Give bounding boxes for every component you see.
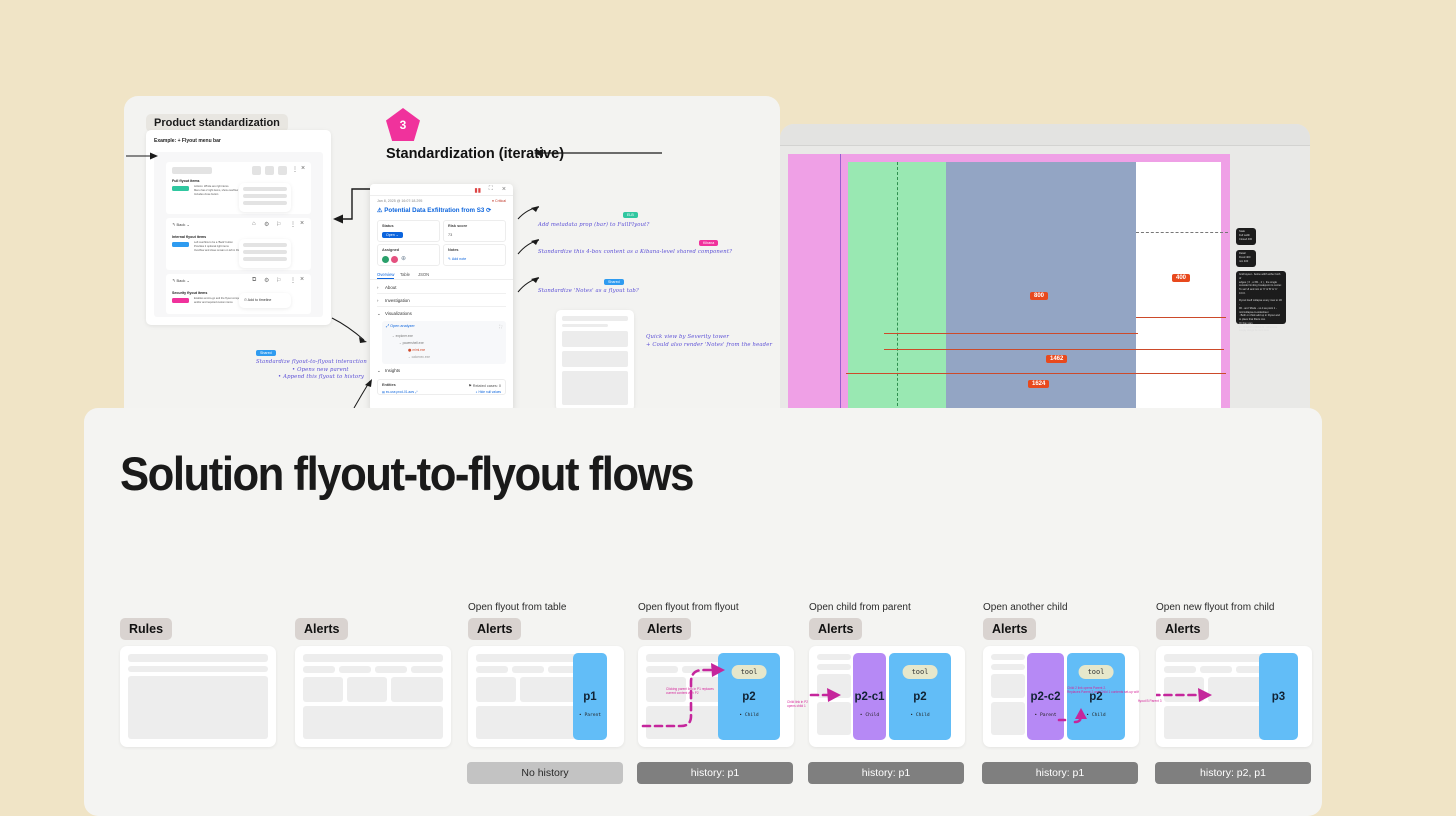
flow-caption: Open flyout from table [468, 602, 566, 613]
annotation-text: Quick view by Severity tower [646, 334, 729, 340]
panel-role-label: Parent [584, 713, 601, 718]
back-button[interactable]: ↰ Back ⌄ [172, 278, 190, 283]
kebab-icon[interactable]: ⋮ [290, 277, 296, 284]
panel-name: p2 [889, 691, 951, 703]
open-analyzer-link[interactable]: ⤢ Open analyzer [386, 324, 415, 328]
panel-name: p2 [718, 691, 780, 703]
bookmark-icon[interactable]: ⚐ [276, 221, 281, 228]
hide-columns-link[interactable]: ◐ Hide null values [476, 390, 501, 394]
history-badge: history: p1 [982, 762, 1138, 784]
status-pill[interactable]: Open ⌄ [382, 232, 403, 238]
kebab-icon[interactable]: ⋮ [290, 221, 296, 228]
tree-node[interactable]: ⌄ explorer.exe [392, 334, 413, 338]
alert-title-text: Potential Data Exfiltration from S3 [384, 207, 484, 214]
panel-role-label: Child [1092, 713, 1106, 718]
flow-caption: Open child from parent [809, 602, 911, 613]
screenshot-root: Product standardization Example: + Flyou… [0, 0, 1456, 816]
measure-line-800 [884, 333, 1138, 334]
panel-name: p1 [573, 691, 607, 703]
close-icon[interactable]: × [301, 165, 305, 172]
tooltip-small-1: StaleFull widthClosed 400 [1236, 228, 1256, 245]
annotation-tag: Shared [604, 279, 624, 285]
panel-name: p2-c2 [1027, 691, 1064, 703]
add-note-link[interactable]: ✎ Add note [448, 257, 466, 261]
open-analyzer-label: Open analyzer [390, 324, 415, 328]
breakpoint-canvas: B20 - Above Large breakpoint (1500) 800 … [780, 124, 1310, 411]
back-button[interactable]: ↰ Back ⌄ [172, 222, 190, 227]
alert-detail-flyout: ▮▮ ⛶ × Jan 8, 2025 @ 16:07:18.295 ● Crit… [370, 184, 513, 411]
flyout-tabs: Overview Table JSON [370, 271, 513, 280]
flow-card-rules [120, 646, 276, 747]
panel-role: • Child [1067, 713, 1125, 718]
avatar[interactable] [382, 256, 389, 263]
step-title: Standardization (iterative) [386, 146, 564, 162]
add-assignee-icon[interactable]: ⊕ [401, 255, 406, 262]
gear-icon[interactable]: ⚙ [264, 277, 269, 284]
annotation-text: Standardize this 4-box content as a Kiba… [538, 249, 732, 255]
flow-note: Clicking parent link in P1 replaces curr… [666, 687, 714, 696]
flow-note: Child link in P2 opens child 1 [787, 700, 808, 709]
flow-chip[interactable]: Alerts [809, 618, 862, 640]
flow-caption: Open another child [983, 602, 1068, 613]
history-badge: history: p1 [808, 762, 964, 784]
chart-icon[interactable]: ▮▮ [474, 187, 481, 194]
section-label: Insights [385, 368, 400, 373]
flow-card: p2-c2 • Parent tool p2 • Child Child 2 l… [983, 646, 1139, 747]
context-menu[interactable]: ⏱ Add to timeline [239, 293, 291, 308]
panel-role: • Parent [573, 713, 607, 718]
flow-card: tool p2 • Child Clicking parent link in … [638, 646, 794, 747]
example-label: Example: + Flyout menu bar [154, 138, 221, 144]
section-visualizations[interactable]: ⌄ Visualizations [377, 310, 506, 320]
dashed-guide-h [1136, 232, 1228, 233]
alert-timestamp: Jan 8, 2025 @ 16:07:18.295 [377, 199, 422, 203]
close-icon[interactable]: × [502, 186, 506, 193]
section-about[interactable]: › About [377, 284, 506, 294]
flow-chip[interactable]: Alerts [983, 618, 1036, 640]
back-label: Back [176, 278, 185, 283]
kebab-icon[interactable]: ⋮ [292, 166, 298, 173]
copy-icon[interactable]: ⧉ [252, 277, 256, 284]
panel-role: • Child [718, 713, 780, 718]
page-title: Solution flyout-to-flyout flows [120, 446, 693, 501]
tooltip-small-2: DetailFixed 400min 400 [1236, 250, 1256, 267]
flow-chip[interactable]: Alerts [468, 618, 521, 640]
block-lines: Left overflow to be a 'Back' button Prov… [194, 241, 241, 253]
measure-line-1624 [846, 373, 1226, 374]
section-insights[interactable]: ⌄ Insights [377, 367, 506, 377]
line-2: and/or and required custom items [194, 301, 233, 304]
tab-table[interactable]: Table [400, 272, 410, 277]
tab-overview[interactable]: Overview [377, 272, 394, 279]
section-label: Visualizations [385, 311, 412, 316]
line-3: Includes close button [194, 193, 218, 196]
section-investigation[interactable]: › Investigation [377, 297, 506, 307]
flyout-panel-p2[interactable]: tool p2 • Child [1067, 653, 1125, 740]
expand-icon[interactable]: ⛶ [489, 186, 493, 193]
panel-role-label: Child [745, 713, 759, 718]
add-to-timeline-item[interactable]: ⏱ Add to timeline [244, 298, 271, 302]
flyout-panel-p2c2[interactable]: p2-c2 • Parent [1027, 653, 1064, 740]
dropdown-menu-1 [239, 183, 291, 212]
panel-role-label: Parent [1040, 713, 1057, 718]
solution-panel: Solution flyout-to-flyout flows Rules Al… [84, 408, 1322, 816]
flow-card: p2-c1 • Child tool p2 • Child [809, 646, 965, 747]
flow-card: p1 • Parent [468, 646, 624, 747]
line-1: Left overflow to be a 'Back' button [194, 241, 233, 244]
line-2: Provides 2 optional right items [194, 245, 229, 248]
section-label: About [385, 285, 396, 290]
field-value: 73 [448, 233, 452, 237]
tool-tag: tool [1079, 665, 1114, 679]
panel-role: • Child [853, 713, 886, 718]
panel-role-label: Child [865, 713, 879, 718]
expand-viz-icon[interactable]: ⛶ [499, 324, 502, 329]
share-icon[interactable]: ⌂ [252, 221, 256, 227]
block-badge [172, 242, 189, 247]
block-title: Full flyout items [172, 179, 200, 183]
annotation-text: Standardize 'Notes' as a flyout tab? [538, 288, 639, 294]
measure-badge-400: 400 [1172, 274, 1190, 282]
browser-chrome-bar [780, 124, 1310, 146]
close-icon[interactable]: × [300, 276, 304, 283]
annotation-tag: Shared [256, 350, 276, 356]
field-label: Status [382, 224, 394, 228]
flow-caption: Open flyout from flyout [638, 602, 739, 613]
field-label: Risk score [448, 224, 467, 228]
back-label: Back [176, 222, 185, 227]
flow-chip[interactable]: Alerts [1156, 618, 1209, 640]
annotation-tag: Kibana [699, 240, 718, 246]
panel-role-label: Child [916, 713, 930, 718]
insights-entities-label: Entities [382, 383, 396, 387]
panel-role: • Parent [1027, 713, 1064, 718]
insights-box: Entities ⚑ Related cases: 0 ▤ ec-use-pro… [377, 379, 506, 395]
tree-node-alert[interactable]: ⬤ mimi.exe [408, 348, 425, 352]
history-badge: history: p2, p1 [1155, 762, 1311, 784]
section-label: Investigation [385, 298, 410, 303]
tab-json[interactable]: JSON [418, 272, 429, 277]
annotation-text: Add metadata prop (bar) to FullFlyout? [538, 222, 649, 228]
flyout-panel-p2[interactable]: tool p2 • Child [718, 653, 780, 740]
field-label: Assigned [382, 248, 399, 252]
close-icon[interactable]: × [300, 220, 304, 227]
annotation-text: Standardize flyout-to-flyout interaction [256, 359, 367, 365]
severity-label: Critical [495, 199, 506, 203]
flow-chip-alerts[interactable]: Alerts [295, 618, 348, 640]
example-card: Example: + Flyout menu bar ⋮ × Full flyo… [146, 130, 331, 325]
annotation-text: + Could also render 'Notes' from the hea… [646, 342, 772, 348]
tree-node[interactable]: ⌄ calcexec.exe [408, 355, 430, 359]
line-2: Menu has 2 right items, show overflow [194, 189, 238, 192]
annotation-text: • Opens new parent [292, 367, 349, 373]
measure-badge-1462: 1462 [1046, 355, 1067, 363]
measure-badge-800: 800 [1030, 292, 1048, 300]
tree-node[interactable]: ⌄ powershell.exe [399, 341, 424, 345]
tool-tag: tool [732, 665, 767, 679]
menu-item-label: Add to timeline [248, 298, 272, 302]
field-status: Status Open ⌄ [377, 220, 440, 242]
example-inner: ⋮ × Full flyout items Actions: Whole are… [154, 152, 323, 317]
line-1: Actions: Whole are right items. [194, 185, 229, 188]
field-notes: Notes ✎ Add note [443, 244, 506, 266]
measure-badge-1624: 1624 [1028, 380, 1049, 388]
visualization-body: ⤢ Open analyzer ⛶ ⌄ explorer.exe ⌄ power… [382, 321, 506, 364]
history-badge: history: p1 [637, 762, 793, 784]
panel-name: p2-c1 [853, 691, 886, 703]
annotation-text: • Append this flyout to history [278, 374, 364, 380]
flow-chip[interactable]: Alerts [638, 618, 691, 640]
flow-caption: Open new flyout from child [1156, 602, 1274, 613]
tool-tag: tool [903, 665, 938, 679]
flyout-panel-p2c1[interactable]: p2-c1 • Child [853, 653, 886, 740]
block-badge [172, 298, 189, 303]
flow-note: flyout B Parent 3 [1138, 699, 1162, 703]
status-value: Open [386, 233, 395, 237]
gear-icon[interactable]: ⚙ [264, 221, 269, 228]
measure-line-1462 [884, 349, 1224, 350]
dropdown-menu-2 [239, 239, 291, 268]
field-risk-score: Risk score 73 [443, 220, 506, 242]
panel-role: • Child [889, 713, 951, 718]
alert-title[interactable]: ⚠ Potential Data Exfiltration from S3 ⟳ [377, 207, 491, 214]
insights-related-label: Related cases: 0 [473, 384, 501, 388]
panel-name: p3 [1259, 691, 1298, 703]
field-assigned: Assigned ⊕ [377, 244, 440, 266]
field-label: Notes [448, 248, 459, 252]
bookmark-icon[interactable]: ⚐ [276, 277, 281, 284]
block-badge [172, 186, 189, 191]
annotation-tag: ELB [623, 212, 638, 218]
severity-badge: ● Critical [492, 199, 506, 203]
guide-line [840, 154, 841, 411]
flow-note: Child 2 link opens Parent 2. Replaces Pa… [1067, 686, 1139, 695]
block-title: Internal flyout items [172, 235, 206, 239]
flyout-panel-p1[interactable]: p1 • Parent [573, 653, 607, 740]
flyout-preview-card [556, 310, 634, 411]
tooltip-large: Grid layout - below width either both of… [1236, 271, 1286, 324]
flow-chip-rules[interactable]: Rules [120, 618, 172, 640]
measure-line-400 [1136, 317, 1226, 318]
flow-card: p3 [1156, 646, 1312, 747]
block-lines: Actions: Whole are right items. Menu has… [194, 185, 238, 197]
flyout-toolbar: ▮▮ ⛶ × [370, 184, 513, 196]
flow-card-alerts [295, 646, 451, 747]
flyout-panel-p3[interactable]: p3 [1259, 653, 1298, 740]
line-3: Overflow and close remain on left in RLB [194, 249, 241, 252]
flyout-panel-p2[interactable]: tool p2 • Child [889, 653, 951, 740]
band-pink-top [788, 154, 1230, 162]
avatar[interactable] [391, 256, 398, 263]
block-title: Security flyout items [172, 291, 207, 295]
history-badge: No history [467, 762, 623, 784]
add-note-label: Add note [452, 257, 466, 261]
entity-row[interactable]: ▤ ec-use-prod-01.aws ⤢ [382, 390, 418, 394]
